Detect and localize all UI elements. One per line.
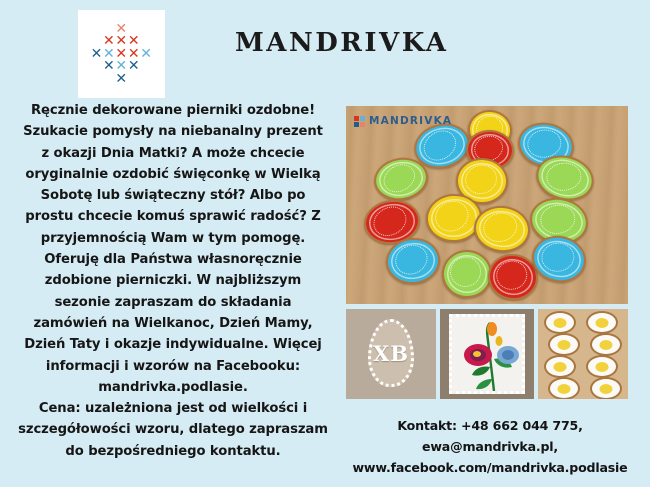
cross-stitch-icon: ✕✕✕✕✕✕✕✕✕✕✕✕✕ — [91, 23, 153, 85]
promo-text-line: Ręcznie dekorowane pierniki ozdobne! — [8, 100, 338, 121]
promo-text-line: Szukacie pomysły na niebanalny prezent — [8, 121, 338, 142]
flower-pattern-icon — [452, 317, 525, 394]
promo-text-line: zamówień na Wielkanoc, Dzień Mamy, — [8, 313, 338, 334]
fried-egg-cookie — [586, 355, 618, 378]
contact-block: Kontakt: +48 662 044 775,ewa@mandrivka.p… — [340, 415, 640, 478]
egg-yolk — [600, 384, 613, 394]
logo-container: ✕✕✕✕✕✕✕✕✕✕✕✕✕ — [78, 10, 165, 98]
fried-egg-cookie — [548, 333, 580, 356]
egg-yolk — [596, 362, 609, 372]
fried-egg-cookie — [590, 333, 622, 356]
egg-yolk — [600, 340, 613, 350]
watermark-pixel — [360, 122, 365, 127]
promo-text-line: przyjemnością Wam w tym pomogę. — [8, 228, 338, 249]
promo-text-line: do bezpośredniego kontaktu. — [8, 441, 338, 462]
cross-stitch-cell: ✕ — [140, 48, 152, 60]
promo-text-line: mandrivka.podlasie. — [8, 377, 338, 398]
page-title: MANDRIVKA — [235, 28, 495, 58]
promo-text-line: z okazji Dnia Matki? A może chcecie — [8, 143, 338, 164]
fried-egg-cookie — [544, 311, 576, 334]
promo-text-line: informacji i wzorów na Facebooku: — [8, 356, 338, 377]
watermark-logo-icon — [354, 116, 365, 127]
watermark-label: MANDRIVKA — [369, 115, 452, 127]
contact-line: www.facebook.com/mandrivka.podlasie — [340, 457, 640, 478]
promo-text-line: Sobotę lub świąteczny stół? Albo po — [8, 185, 338, 206]
photo-watermark: MANDRIVKA — [354, 115, 452, 127]
promo-text-line: oryginalnie ozdobić święconkę w Wielką — [8, 164, 338, 185]
fried-egg-cookie — [544, 355, 576, 378]
contact-line: ewa@mandrivka.pl, — [340, 436, 640, 457]
cross-stitch-cell: ✕ — [103, 60, 115, 72]
fried-egg-cookies-photo — [538, 309, 628, 399]
poster-header: ✕✕✕✕✕✕✕✕✕✕✕✕✕ MANDRIVKA — [0, 0, 650, 100]
promo-text-line: prostu chcecie komuś sprawić radość? Z — [8, 206, 338, 227]
egg-yolk — [558, 340, 571, 350]
promo-text-line: szczegółowości wzoru, dlatego zapraszam — [8, 419, 338, 440]
egg-yolk — [558, 384, 571, 394]
main-photo: MANDRIVKA — [346, 106, 628, 304]
watermark-pixel — [354, 116, 359, 121]
cross-stitch-cell: ✕ — [128, 60, 140, 72]
promo-text-line: Oferuję dla Państwa własnoręcznie — [8, 249, 338, 270]
promo-text-line: sezonie zapraszam do składania — [8, 292, 338, 313]
egg-yolk — [554, 318, 567, 328]
promo-text-block: Ręcznie dekorowane pierniki ozdobne!Szuk… — [8, 100, 338, 462]
promo-text-line: Dzień Taty i okazje indywidualne. Więcej — [8, 334, 338, 355]
xb-cookie-label: XB — [368, 319, 414, 387]
contact-line: Kontakt: +48 662 044 775, — [340, 415, 640, 436]
floral-embroidery-cookie-photo — [440, 309, 534, 399]
cross-stitch-cell: ✕ — [91, 48, 103, 60]
promo-text-line: zdobione pierniczki. W najbliższym — [8, 270, 338, 291]
fried-egg-cookie — [548, 377, 580, 399]
floral-cookie-tile — [449, 314, 525, 394]
egg-yolk — [554, 362, 567, 372]
fried-egg-cookie — [586, 311, 618, 334]
cross-stitch-cell: ✕ — [115, 73, 127, 85]
egg-yolk — [596, 318, 609, 328]
watermark-pixel — [360, 116, 365, 121]
promo-text-line: Cena: uzależniona jest od wielkości i — [8, 398, 338, 419]
poster-canvas: ✕✕✕✕✕✕✕✕✕✕✕✕✕ MANDRIVKA Ręcznie dekorowa… — [0, 0, 650, 487]
watermark-pixel — [354, 122, 359, 127]
xb-egg-cookie-photo: XB — [346, 309, 436, 399]
fried-egg-cookie — [590, 377, 622, 399]
